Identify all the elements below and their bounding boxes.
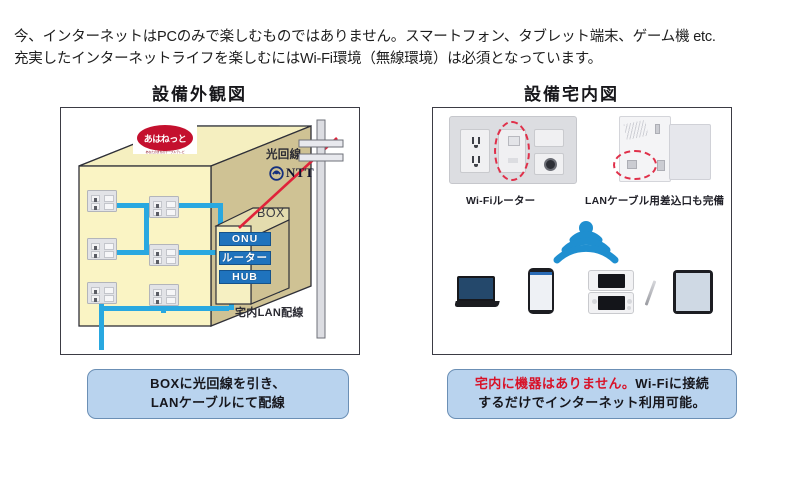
wifi-icon bbox=[551, 218, 621, 270]
header-line-1: 今、インターネットはPCのみで楽しむものではありません。スマートフォン、タブレッ… bbox=[14, 26, 790, 48]
smartphone-screen bbox=[530, 272, 552, 310]
power-socket-top bbox=[468, 135, 484, 149]
caption-right-red-text: 宅内に機器はありません。 bbox=[475, 376, 635, 391]
exterior-diagram-panel: あはねっと あなたのまちのケーブルテレビ bbox=[60, 107, 360, 355]
power-socket-bottom bbox=[468, 154, 484, 168]
utility-pole-svg bbox=[61, 108, 361, 356]
caption-right-line-2: するだけでインターネット利用可能。 bbox=[478, 394, 706, 413]
header-line-2: 充実したインターネットライフを楽しむにはWi-Fi環境（無線環境）は必須となって… bbox=[14, 48, 790, 70]
section-title-exterior: 設備外観図 bbox=[152, 80, 247, 105]
caption-right-black-text: Wi-Fiに接続 bbox=[635, 376, 709, 391]
interior-diagram-panel: Wi-Fiルーター LANケーブル用差込口も完備 bbox=[432, 107, 732, 355]
handheld-game-console bbox=[588, 270, 636, 314]
tablet-device bbox=[673, 270, 713, 314]
coax-subplate bbox=[534, 153, 564, 175]
laptop-screen bbox=[457, 276, 495, 301]
wall-plate-photo bbox=[449, 116, 577, 184]
laptop-device bbox=[455, 276, 501, 310]
caption-left-line-1: BOXに光回線を引き、 bbox=[150, 375, 286, 394]
lan-wiring-label: 宅内LAN配線 bbox=[235, 304, 304, 320]
router-lan-port-2 bbox=[657, 160, 665, 171]
caption-left-line-2: LANケーブルにて配線 bbox=[151, 394, 285, 413]
section-title-interior: 設備宅内図 bbox=[524, 80, 619, 105]
wall-plate-caption: Wi-Fiルーター bbox=[466, 193, 535, 208]
coax-connector bbox=[544, 158, 557, 171]
pole-crossarm-bottom bbox=[299, 154, 343, 161]
router-caption: LANケーブル用差込口も完備 bbox=[585, 193, 724, 208]
caption-box-left: BOXに光回線を引き、 LANケーブルにて配線 bbox=[87, 369, 349, 419]
pole-shaft bbox=[317, 120, 325, 338]
tablet-screen bbox=[676, 273, 710, 311]
laptop-base bbox=[454, 301, 499, 307]
building-illustration: あはねっと あなたのまちのケーブルテレビ bbox=[61, 108, 361, 356]
router-side-body bbox=[669, 124, 711, 180]
outlet-subplate bbox=[460, 129, 490, 173]
blank-subplate bbox=[534, 129, 564, 147]
smartphone-device bbox=[528, 268, 554, 314]
caption-right-line-1: 宅内に機器はありません。Wi-Fiに接続 bbox=[475, 375, 709, 394]
stylus-pen bbox=[645, 280, 657, 305]
console-top-half bbox=[588, 270, 634, 291]
console-bottom-half bbox=[588, 292, 634, 314]
header-text: 今、インターネットはPCのみで楽しむものではありません。スマートフォン、タブレッ… bbox=[14, 26, 790, 71]
router-photo bbox=[613, 110, 721, 188]
pole-crossarm-top bbox=[299, 140, 343, 147]
lan-jack-highlight-circle bbox=[494, 121, 530, 181]
lan-port-highlight-circle bbox=[613, 150, 657, 180]
router-indicator-port bbox=[655, 124, 660, 134]
caption-box-right: 宅内に機器はありません。Wi-Fiに接続 するだけでインターネット利用可能。 bbox=[447, 369, 737, 419]
